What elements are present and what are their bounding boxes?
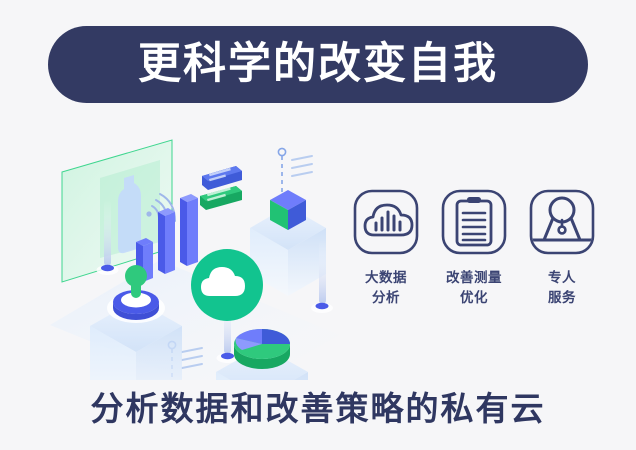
hero-illustration: [40, 130, 340, 380]
feature-label-line2: 分析: [365, 288, 407, 308]
label-chip-green: [200, 186, 242, 210]
poster-canvas: 更科学的改变自我: [0, 0, 636, 450]
feature-item-measurement[interactable]: 改善测量 优化: [436, 188, 512, 307]
clipboard-icon: [440, 188, 508, 256]
pie-chart-3d: [234, 329, 290, 369]
feature-item-big-data[interactable]: 大数据 分析: [348, 188, 424, 307]
feature-label: 大数据 分析: [365, 268, 407, 307]
feature-label-line2: 服务: [548, 288, 576, 308]
tagline: 分析数据和改善策略的私有云: [0, 382, 636, 430]
cloud-bar-chart-icon: [352, 188, 420, 256]
feature-list: 大数据 分析: [348, 188, 600, 328]
feature-label-line1: 大数据: [365, 268, 407, 288]
cloud-badge: [191, 249, 263, 321]
service-person-icon: [528, 188, 596, 256]
page-title: 更科学的改变自我: [138, 43, 498, 86]
feature-label-line1: 改善测量: [446, 268, 502, 288]
feature-label: 改善测量 优化: [446, 268, 502, 307]
dashed-connector: [278, 148, 312, 196]
feature-item-service[interactable]: 专人 服务: [524, 188, 600, 307]
feature-label-line1: 专人: [548, 268, 576, 288]
feature-label-line2: 优化: [446, 288, 502, 308]
title-banner: 更科学的改变自我: [48, 26, 588, 103]
feature-label: 专人 服务: [548, 268, 576, 307]
